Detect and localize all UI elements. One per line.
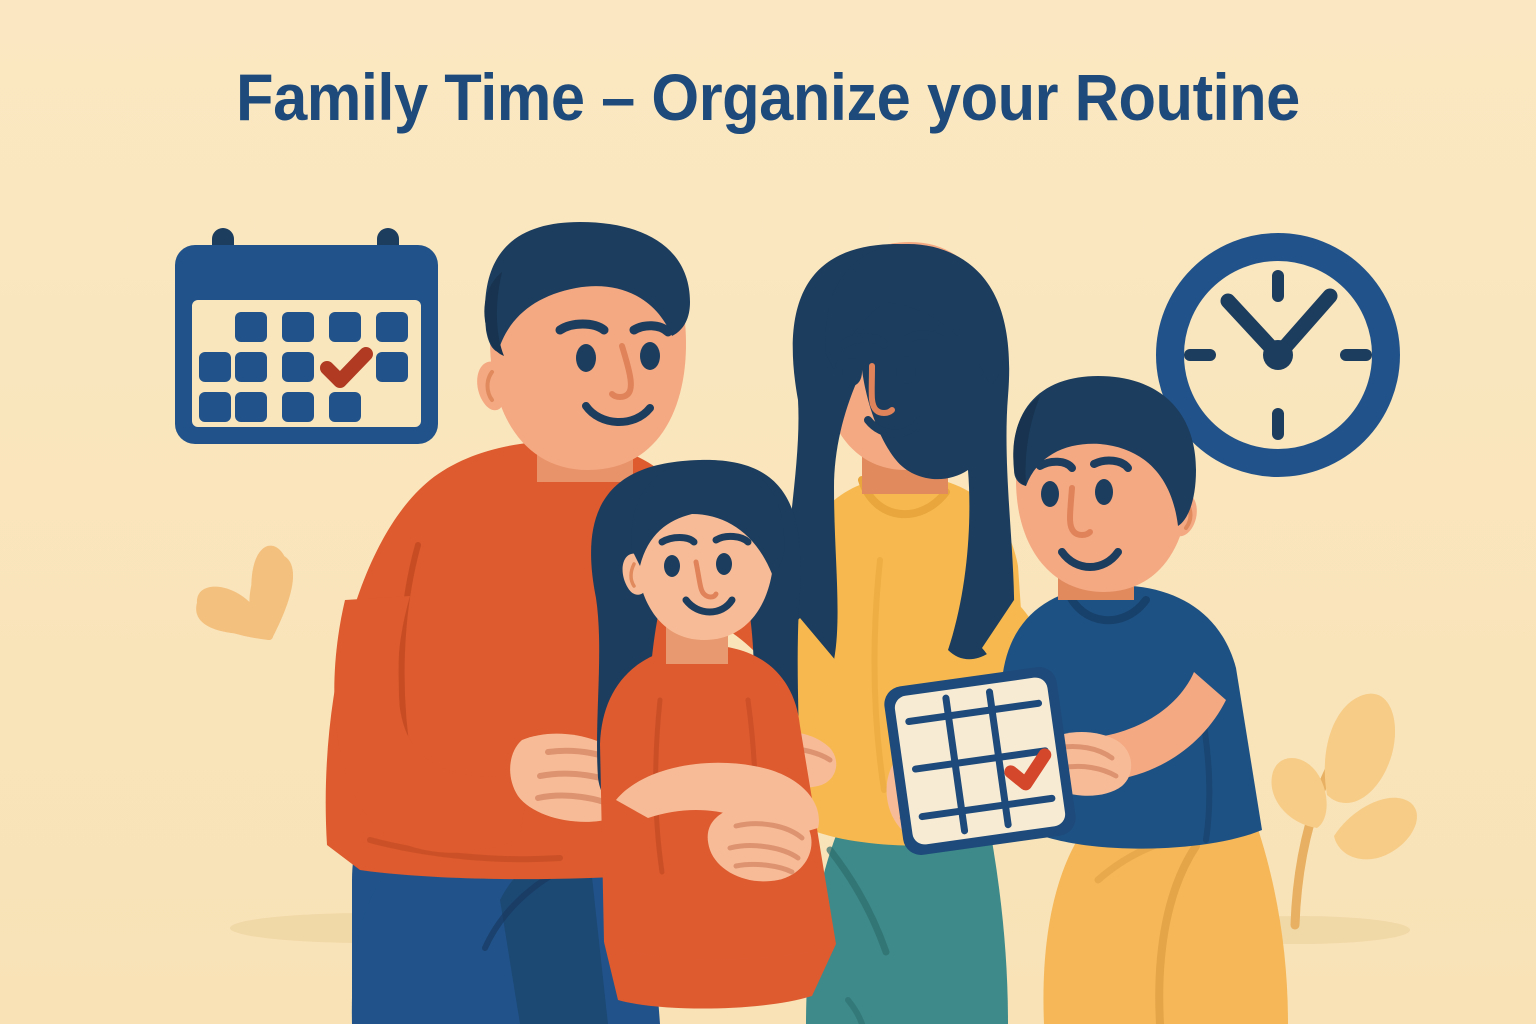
- illustration-canvas: Family Time – Organize your Routine: [0, 0, 1536, 1024]
- tablet-device[interactable]: [882, 665, 1078, 858]
- family-routine-illustration: [0, 0, 1536, 1024]
- clock-icon: [1170, 247, 1386, 463]
- figure-daughter: [591, 460, 836, 1009]
- calendar-icon: [175, 228, 438, 444]
